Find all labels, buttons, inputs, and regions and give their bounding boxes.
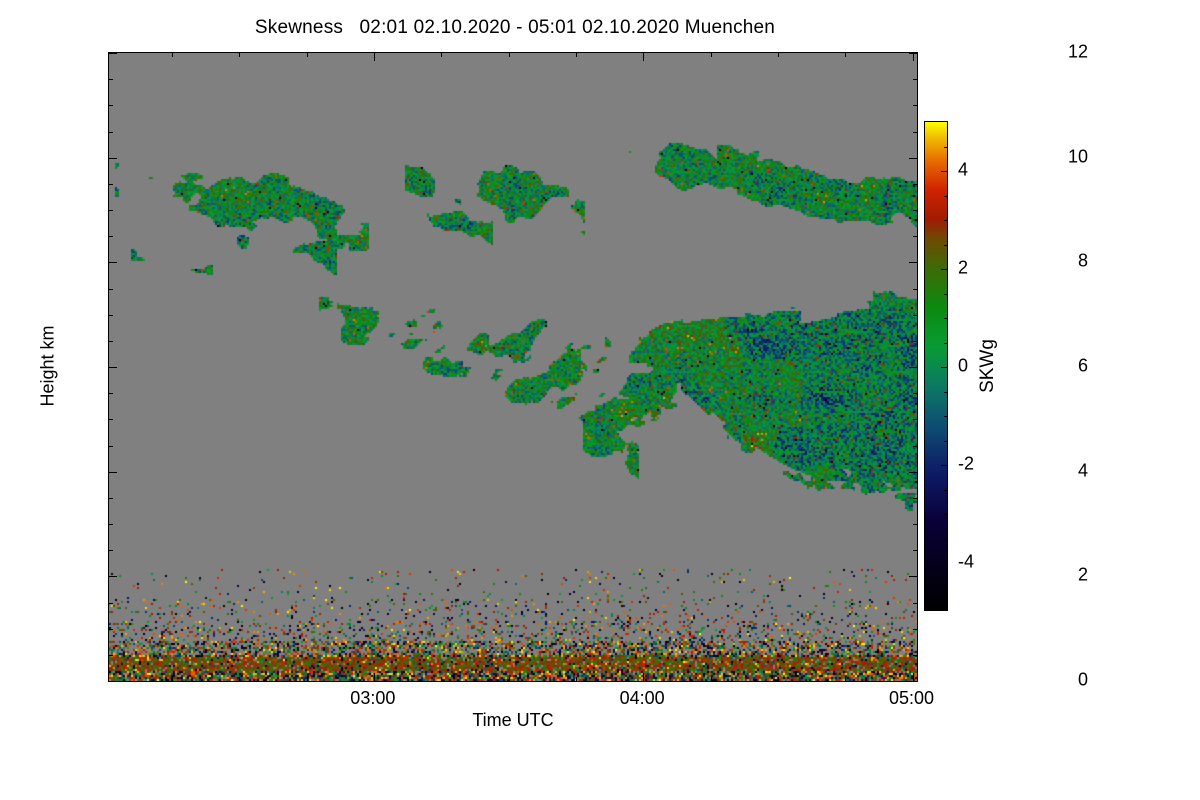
y-tick-minor xyxy=(108,655,113,656)
y-tick-minor-right xyxy=(913,184,918,185)
y-tick-major xyxy=(108,576,117,577)
x-tick-major-top xyxy=(913,52,914,61)
colorbar-tick-minor xyxy=(944,343,948,344)
y-tick-minor-right xyxy=(913,289,918,290)
colorbar-tick-major xyxy=(941,367,948,368)
x-tick-minor-top xyxy=(845,52,846,57)
y-tick-major xyxy=(108,472,117,473)
heatmap-canvas xyxy=(109,53,917,681)
y-tick-minor-right xyxy=(913,315,918,316)
y-tick-minor-right xyxy=(913,393,918,394)
y-tick-label: 4 xyxy=(1078,460,1088,481)
x-tick-minor xyxy=(778,677,779,682)
colorbar-tick-minor xyxy=(944,490,948,491)
y-tick-minor xyxy=(108,393,113,394)
x-tick-minor xyxy=(307,677,308,682)
y-tick-label: 0 xyxy=(1078,670,1088,691)
y-tick-label: 10 xyxy=(1068,146,1088,167)
y-tick-major xyxy=(108,53,117,54)
x-axis-title: Time UTC xyxy=(472,710,553,731)
colorbar-tick-minor xyxy=(944,392,948,393)
y-tick-minor-right xyxy=(913,655,918,656)
x-tick-minor-top xyxy=(441,52,442,57)
colorbar-tick-label: -4 xyxy=(958,552,974,573)
x-tick-label: 05:00 xyxy=(889,688,934,709)
x-tick-minor-top xyxy=(307,52,308,57)
y-tick-minor xyxy=(108,79,113,80)
y-tick-minor xyxy=(108,315,113,316)
colorbar[interactable] xyxy=(924,121,948,611)
y-tick-minor-right xyxy=(913,498,918,499)
y-tick-minor-right xyxy=(913,105,918,106)
y-tick-minor-right xyxy=(913,446,918,447)
y-tick-label: 2 xyxy=(1078,565,1088,586)
x-tick-major-top xyxy=(643,52,644,61)
y-tick-minor-right xyxy=(913,341,918,342)
colorbar-tick-minor xyxy=(944,294,948,295)
y-tick-major xyxy=(108,158,117,159)
y-tick-minor-right xyxy=(913,236,918,237)
y-tick-minor xyxy=(108,105,113,106)
y-tick-major-right xyxy=(909,262,918,263)
y-axis-title: Height km xyxy=(38,325,59,406)
colorbar-tick-minor xyxy=(944,245,948,246)
page-title: Skewness 02:01 02.10.2020 - 05:01 02.10.… xyxy=(0,17,1030,39)
x-tick-minor-top xyxy=(778,52,779,57)
y-tick-major xyxy=(108,681,117,682)
colorbar-tick-label: 0 xyxy=(958,356,968,377)
y-tick-major-right xyxy=(909,158,918,159)
x-tick-minor xyxy=(845,677,846,682)
colorbar-tick-label: 4 xyxy=(958,160,968,181)
y-tick-minor xyxy=(108,524,113,525)
x-tick-label: 03:00 xyxy=(350,688,395,709)
y-tick-minor xyxy=(108,210,113,211)
x-tick-minor-top xyxy=(172,52,173,57)
y-tick-major-right xyxy=(909,681,918,682)
y-tick-label: 6 xyxy=(1078,356,1088,377)
y-tick-minor xyxy=(108,236,113,237)
colorbar-tick-minor xyxy=(944,588,948,589)
plot-area[interactable] xyxy=(108,52,918,682)
colorbar-tick-major xyxy=(941,171,948,172)
x-tick-major xyxy=(643,673,644,682)
y-tick-label: 8 xyxy=(1078,251,1088,272)
colorbar-tick-minor xyxy=(944,147,948,148)
x-tick-major-top xyxy=(374,52,375,61)
y-tick-minor-right xyxy=(913,550,918,551)
y-tick-minor xyxy=(108,184,113,185)
x-tick-major xyxy=(913,673,914,682)
x-tick-major xyxy=(374,673,375,682)
colorbar-tick-minor xyxy=(944,196,948,197)
y-tick-minor-right xyxy=(913,603,918,604)
y-tick-minor xyxy=(108,629,113,630)
y-tick-minor xyxy=(108,289,113,290)
colorbar-tick-major xyxy=(941,465,948,466)
y-tick-minor-right xyxy=(913,79,918,80)
x-tick-minor-top xyxy=(239,52,240,57)
y-tick-minor-right xyxy=(913,132,918,133)
colorbar-title: SKWg xyxy=(977,339,999,393)
x-tick-minor xyxy=(172,677,173,682)
colorbar-tick-minor xyxy=(944,539,948,540)
x-tick-minor xyxy=(576,677,577,682)
y-tick-major xyxy=(108,367,117,368)
colorbar-tick-minor xyxy=(944,416,948,417)
y-tick-minor-right xyxy=(913,419,918,420)
y-tick-label: 12 xyxy=(1068,42,1088,63)
x-tick-minor xyxy=(509,677,510,682)
y-tick-minor xyxy=(108,550,113,551)
x-tick-minor xyxy=(239,677,240,682)
y-tick-minor-right xyxy=(913,524,918,525)
skewness-plot-page: Skewness 02:01 02.10.2020 - 05:01 02.10.… xyxy=(0,0,1200,800)
x-tick-minor xyxy=(441,677,442,682)
y-tick-major-right xyxy=(909,53,918,54)
x-tick-minor-top xyxy=(576,52,577,57)
x-tick-minor-top xyxy=(509,52,510,57)
colorbar-tick-minor xyxy=(944,514,948,515)
colorbar-tick-major xyxy=(941,563,948,564)
y-tick-major xyxy=(108,262,117,263)
y-tick-major-right xyxy=(909,367,918,368)
x-tick-label: 04:00 xyxy=(620,688,665,709)
colorbar-tick-minor xyxy=(944,318,948,319)
y-tick-minor xyxy=(108,446,113,447)
y-tick-major-right xyxy=(909,576,918,577)
y-tick-minor-right xyxy=(913,629,918,630)
y-tick-minor xyxy=(108,132,113,133)
y-tick-minor xyxy=(108,419,113,420)
x-tick-minor-top xyxy=(711,52,712,57)
colorbar-tick-major xyxy=(941,269,948,270)
colorbar-tick-minor xyxy=(944,441,948,442)
colorbar-tick-label: -2 xyxy=(958,454,974,475)
colorbar-tick-minor xyxy=(944,220,948,221)
y-tick-major-right xyxy=(909,472,918,473)
x-tick-minor xyxy=(711,677,712,682)
y-tick-minor xyxy=(108,498,113,499)
colorbar-tick-label: 2 xyxy=(958,258,968,279)
y-tick-minor-right xyxy=(913,210,918,211)
y-tick-minor xyxy=(108,603,113,604)
y-tick-minor xyxy=(108,341,113,342)
